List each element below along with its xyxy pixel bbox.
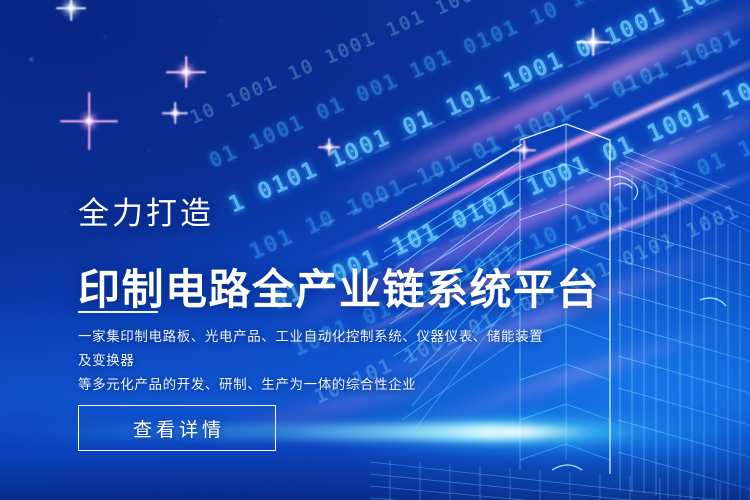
title-divider <box>78 311 158 313</box>
hero-content: 全力打造 印制电路全产业链系统平台 一家集印制电路板、光电产品、工业自动化控制系… <box>78 0 638 500</box>
hero-banner: 10 1001 10 1001 101 1001 101 01 1001 101… <box>0 0 750 500</box>
page-title: 印制电路全产业链系统平台 <box>78 266 600 313</box>
hero-description: 一家集印制电路板、光电产品、工业自动化控制系统、仪器仪表、储能装置及变换器 等多… <box>78 325 548 397</box>
hero-description-line-2: 等多元化产品的开发、研制、生产为一体的综合性企业 <box>78 373 548 397</box>
view-details-button[interactable]: 查看详情 <box>78 405 276 451</box>
hero-description-line-1: 一家集印制电路板、光电产品、工业自动化控制系统、仪器仪表、储能装置及变换器 <box>78 325 548 373</box>
hero-eyebrow: 全力打造 <box>78 198 214 229</box>
